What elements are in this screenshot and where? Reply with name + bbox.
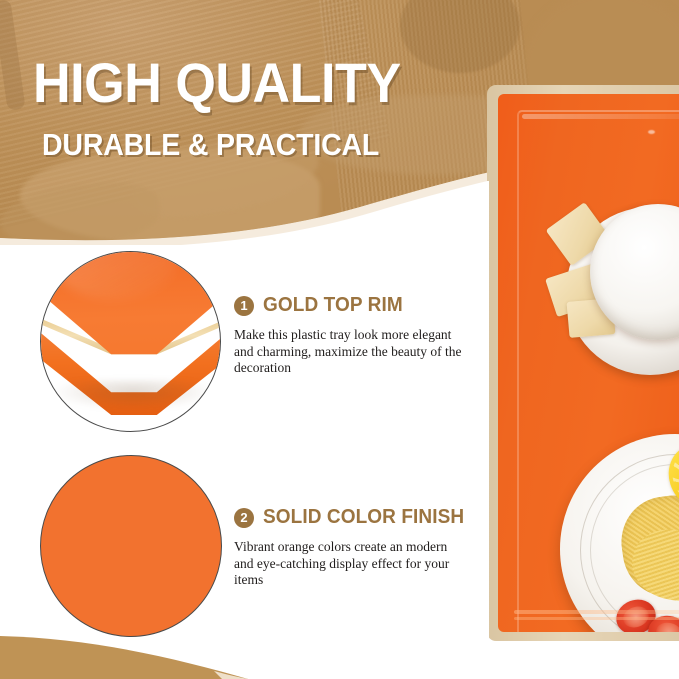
tray-bottom-lip [514, 610, 679, 614]
feature-1-number-badge: 1 [234, 296, 254, 316]
feature-1-text: 1 GOLD TOP RIM Make this plastic tray lo… [234, 294, 466, 377]
page-subtitle: DURABLE & PRACTICAL [42, 128, 379, 162]
tomato-core-2 [654, 620, 679, 632]
tray-bottom-lip-secondary [514, 617, 679, 620]
product-feature-infographic: HIGH QUALITY DURABLE & PRACTICAL 1 GOLD … [0, 0, 679, 679]
feature-1-image [40, 251, 221, 432]
bottom-decorative-wave [0, 628, 340, 679]
feature-2-heading: 2 SOLID COLOR FINISH [234, 506, 475, 529]
product-photo [487, 85, 679, 641]
feature-2-image [40, 455, 222, 637]
feature-1-body: Make this plastic tray look more elegant… [234, 327, 466, 377]
tray-top-highlight [522, 114, 679, 119]
tray-surface [498, 94, 679, 632]
feature-2-number-badge: 2 [234, 508, 254, 528]
page-title: HIGH QUALITY [33, 55, 401, 111]
feature-2-body: Vibrant orange colors create an modern a… [234, 539, 466, 589]
tray-drop-shadow [53, 380, 213, 410]
tray-specular-dot [648, 130, 655, 134]
tray-corner-illustration [41, 252, 220, 431]
feature-2-text: 2 SOLID COLOR FINISH Vibrant orange colo… [234, 506, 475, 589]
feature-2-title: SOLID COLOR FINISH [263, 506, 464, 529]
photo-left-mask [487, 181, 489, 641]
feature-1-heading: 1 GOLD TOP RIM [234, 294, 466, 317]
feature-1-title: GOLD TOP RIM [263, 294, 403, 317]
